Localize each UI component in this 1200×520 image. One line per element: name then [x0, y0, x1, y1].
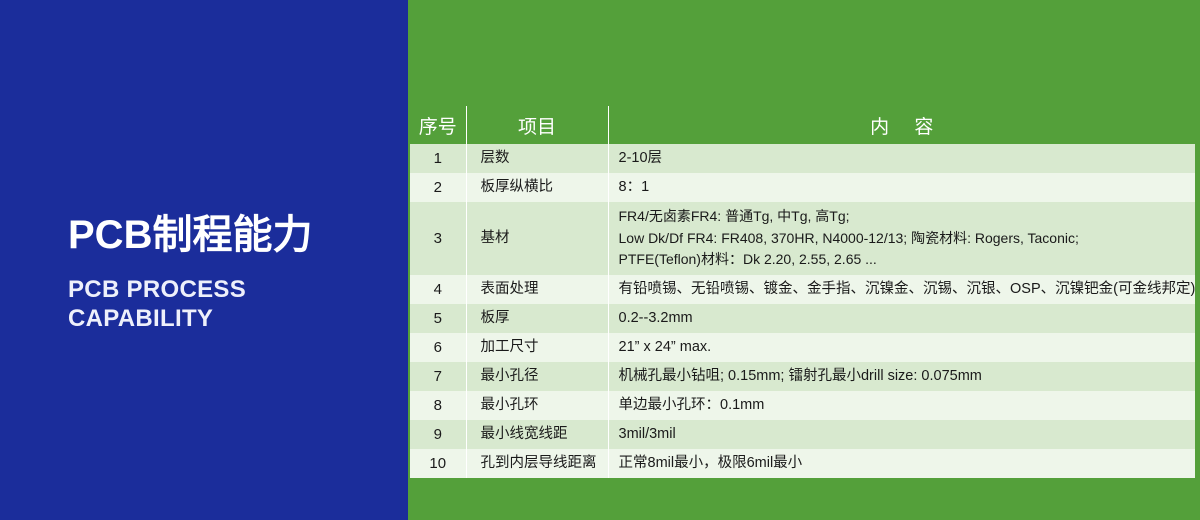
cell-no: 4	[410, 275, 466, 304]
page-title-english: PCB PROCESS CAPABILITY	[68, 275, 398, 334]
cell-no: 5	[410, 304, 466, 333]
column-header-content: 内 容	[608, 106, 1195, 144]
left-blue-panel: PCB制程能力 PCB PROCESS CAPABILITY	[0, 0, 408, 520]
cell-content: 3mil/3mil	[608, 420, 1195, 449]
table-row: 2 板厚纵横比 8：1	[410, 173, 1195, 202]
cell-item: 最小孔径	[466, 362, 608, 391]
page-title-english-line2: CAPABILITY	[68, 304, 398, 333]
cell-content: 有铅喷锡、无铅喷锡、镀金、金手指、沉镍金、沉锡、沉银、OSP、沉镍钯金(可金线邦…	[608, 275, 1195, 304]
table-row: 5 板厚 0.2--3.2mm	[410, 304, 1195, 333]
brand-block: PCB制程能力 PCB PROCESS CAPABILITY	[68, 212, 398, 334]
column-header-no: 序号	[410, 106, 466, 144]
cell-no: 6	[410, 333, 466, 362]
cell-content: FR4/无卤素FR4: 普通Tg, 中Tg, 高Tg; Low Dk/Df FR…	[608, 202, 1195, 275]
cell-item: 加工尺寸	[466, 333, 608, 362]
cell-item: 层数	[466, 144, 608, 173]
cell-no: 3	[410, 202, 466, 275]
table-row: 4 表面处理 有铅喷锡、无铅喷锡、镀金、金手指、沉镍金、沉锡、沉银、OSP、沉镍…	[410, 275, 1195, 304]
cell-content: 机械孔最小钻咀; 0.15mm; 镭射孔最小drill size: 0.075m…	[608, 362, 1195, 391]
cell-no: 7	[410, 362, 466, 391]
cell-item: 孔到内层导线距离	[466, 449, 608, 478]
cell-item: 板厚	[466, 304, 608, 333]
cell-item: 最小线宽线距	[466, 420, 608, 449]
cell-content: 正常8mil最小，极限6mil最小	[608, 449, 1195, 478]
cell-item: 基材	[466, 202, 608, 275]
column-header-item: 项目	[466, 106, 608, 144]
cell-no: 9	[410, 420, 466, 449]
cell-content: 2-10层	[608, 144, 1195, 173]
cell-item: 板厚纵横比	[466, 173, 608, 202]
cell-content: 0.2--3.2mm	[608, 304, 1195, 333]
table-row: 9 最小线宽线距 3mil/3mil	[410, 420, 1195, 449]
table-header: 序号 项目 内 容	[410, 106, 1195, 144]
cell-content: 21” x 24” max.	[608, 333, 1195, 362]
table-row: 7 最小孔径 机械孔最小钻咀; 0.15mm; 镭射孔最小drill size:…	[410, 362, 1195, 391]
right-green-panel: 序号 项目 内 容 1 层数 2-10层 2 板厚纵横比 8：1 3	[408, 0, 1200, 520]
table-row: 10 孔到内层导线距离 正常8mil最小，极限6mil最小	[410, 449, 1195, 478]
page-title-chinese: PCB制程能力	[68, 212, 398, 259]
cell-no: 2	[410, 173, 466, 202]
table-row: 6 加工尺寸 21” x 24” max.	[410, 333, 1195, 362]
cell-no: 1	[410, 144, 466, 173]
table-row: 3 基材 FR4/无卤素FR4: 普通Tg, 中Tg, 高Tg; Low Dk/…	[410, 202, 1195, 275]
table-body: 1 层数 2-10层 2 板厚纵横比 8：1 3 基材 FR4/无卤素FR4: …	[410, 144, 1195, 478]
cell-no: 10	[410, 449, 466, 478]
table-row: 8 最小孔环 单边最小孔环：0.1mm	[410, 391, 1195, 420]
cell-content: 8：1	[608, 173, 1195, 202]
capability-table: 序号 项目 内 容 1 层数 2-10层 2 板厚纵横比 8：1 3	[410, 106, 1195, 478]
table-header-row: 序号 项目 内 容	[410, 106, 1195, 144]
cell-item: 表面处理	[466, 275, 608, 304]
cell-content: 单边最小孔环：0.1mm	[608, 391, 1195, 420]
cell-item: 最小孔环	[466, 391, 608, 420]
table-row: 1 层数 2-10层	[410, 144, 1195, 173]
cell-no: 8	[410, 391, 466, 420]
slide-root: PCB制程能力 PCB PROCESS CAPABILITY 序号 项目 内 容	[0, 0, 1200, 520]
page-title-english-line1: PCB PROCESS	[68, 275, 398, 304]
